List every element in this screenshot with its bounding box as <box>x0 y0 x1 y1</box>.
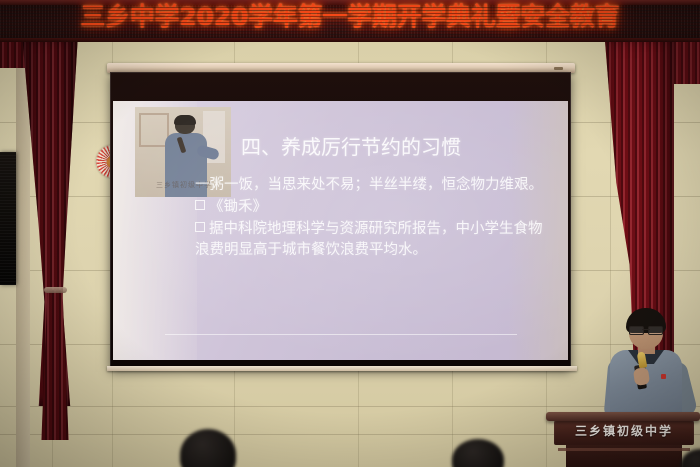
podium-sign-text: 三乡镇初级中学 <box>554 424 694 438</box>
podium-ledge <box>558 448 690 451</box>
speaker-grille <box>0 152 16 285</box>
presenter-badge <box>661 374 666 379</box>
slide-line-text: 《锄禾》 <box>209 199 267 215</box>
wall-tile-line <box>0 406 700 407</box>
glasses-lens-right <box>648 326 663 335</box>
glasses-lens-left <box>629 326 644 335</box>
podium: 三乡镇初级中学 <box>546 412 700 467</box>
slide-line: 一粥一饭，当思来处不易；半丝半缕，恒念物力维艰。 <box>195 175 547 196</box>
slide-line-bulleted: 据中科院地理科学与资源研究所报告，中小学生食物浪费明显高于城市餐饮浪费平均水。 <box>195 219 547 261</box>
slide-body: 一粥一饭，当思来处不易；半丝半缕，恒念物力维艰。 《锄禾》 据中科院地理科学与资… <box>195 175 547 262</box>
assembly-hall-photo: 三乡镇初级中学 四、养成厉行节约的习惯 一粥一饭，当思来处不易；半丝半缕，恒念物… <box>0 0 700 467</box>
roller-knob <box>554 67 563 70</box>
pip-person-hair <box>174 115 196 125</box>
pa-speaker <box>0 152 16 285</box>
slide-line-bulleted: 《锄禾》 <box>195 197 547 218</box>
glasses-bridge <box>642 329 650 330</box>
presenter-hand <box>633 367 650 386</box>
projector-screen-bottom-bar <box>107 366 577 371</box>
podium-top-rail <box>546 412 700 421</box>
curtain-tieback <box>44 287 67 293</box>
slide-line-text: 据中科院地理科学与资源研究所报告，中小学生食物浪费明显高于城市餐饮浪费平均水。 <box>195 221 543 258</box>
square-bullet-icon <box>195 200 205 210</box>
led-banner: 三乡中学2020学年第一学期开学典礼暨安全教育 <box>0 0 700 42</box>
square-bullet-icon <box>195 222 205 232</box>
led-banner-frame-bottom <box>0 38 700 42</box>
projection-screen: 三乡镇初级中学 四、养成厉行节约的习惯 一粥一饭，当思来处不易；半丝半缕，恒念物… <box>110 72 571 369</box>
led-banner-text: 三乡中学2020学年第一学期开学典礼暨安全教育 <box>4 4 697 30</box>
glasses-icon <box>629 326 663 333</box>
slide-divider-line <box>165 334 517 335</box>
slide-title: 四、养成厉行节约的习惯 <box>241 135 461 159</box>
projected-slide: 三乡镇初级中学 四、养成厉行节约的习惯 一粥一饭，当思来处不易；半丝半缕，恒念物… <box>113 101 568 360</box>
